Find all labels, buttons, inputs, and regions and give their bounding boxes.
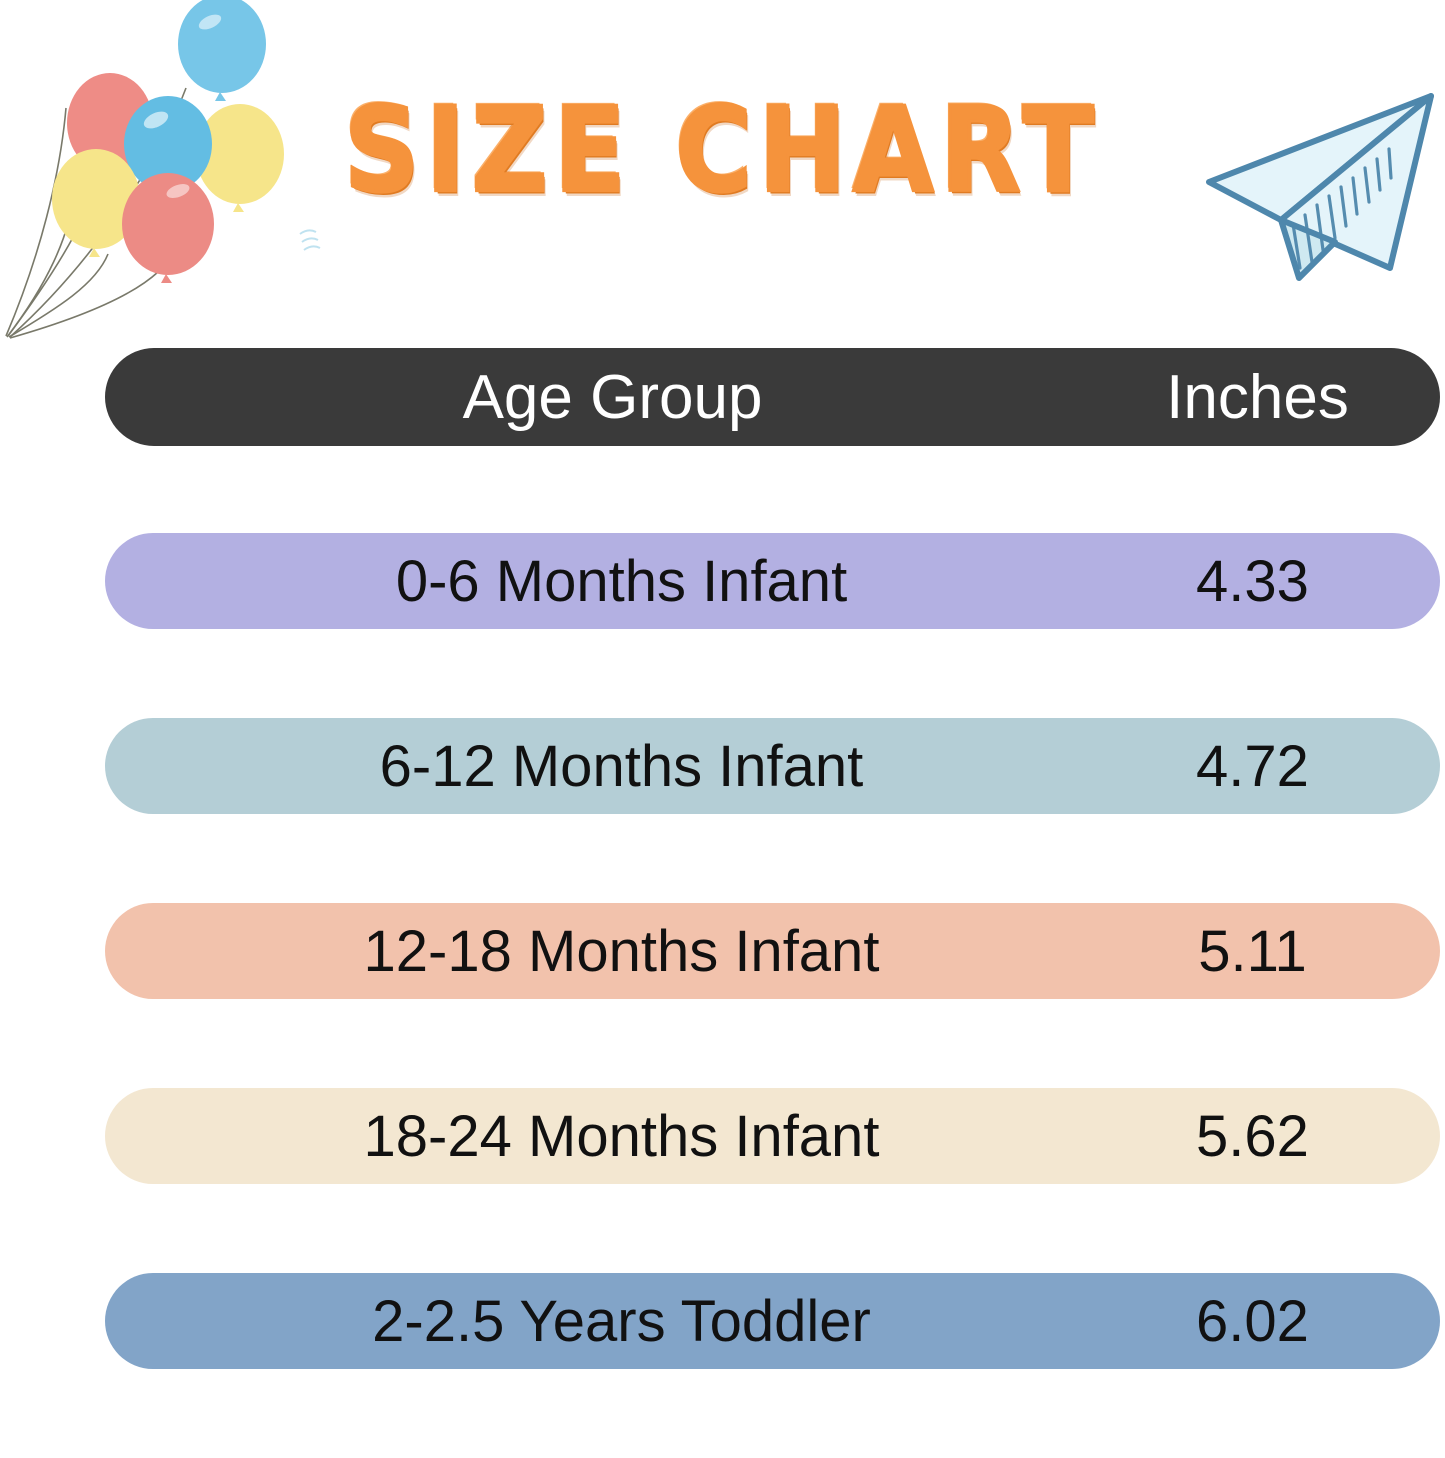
table-row: 6-12 Months Infant 4.72 [105,718,1440,814]
page-title-text: SIZE CHART [344,92,1100,208]
balloon-cluster-decoration [0,0,330,341]
table-row: 12-18 Months Infant 5.11 [105,903,1440,999]
table-row: 2-2.5 Years Toddler 6.02 [105,1273,1440,1369]
row-value: 4.72 [1120,733,1440,800]
row-label: 6-12 Months Infant [105,733,1120,800]
balloon-blue-top [178,0,266,101]
row-value: 5.11 [1120,918,1440,985]
row-value: 6.02 [1120,1288,1440,1355]
balloon-strings [6,88,186,338]
balloon-yellow-left [52,149,140,257]
column-header-age-group: Age Group [105,362,1120,433]
table-row: 0-6 Months Infant 4.33 [105,533,1440,629]
column-header-inches: Inches [1120,362,1440,433]
paper-airplane-icon [1183,72,1445,297]
balloon-blue-center [124,96,212,200]
table-row: 18-24 Months Infant 5.62 [105,1088,1440,1184]
balloon-yellow-right [196,104,284,212]
row-label: 2-2.5 Years Toddler [105,1288,1120,1355]
size-chart-table: Age Group Inches 0-6 Months Infant 4.33 … [105,348,1440,1458]
balloon-coral-lower [122,173,214,283]
row-label: 18-24 Months Infant [105,1103,1120,1170]
row-label: 0-6 Months Infant [105,548,1120,615]
table-header-row: Age Group Inches [105,348,1440,446]
sparkle-mark [300,230,320,250]
row-value: 4.33 [1120,548,1440,615]
row-value: 5.62 [1120,1103,1440,1170]
row-label: 12-18 Months Infant [105,918,1120,985]
balloon-coral-upper [67,73,153,181]
page-title: SIZE CHART [0,98,1445,202]
